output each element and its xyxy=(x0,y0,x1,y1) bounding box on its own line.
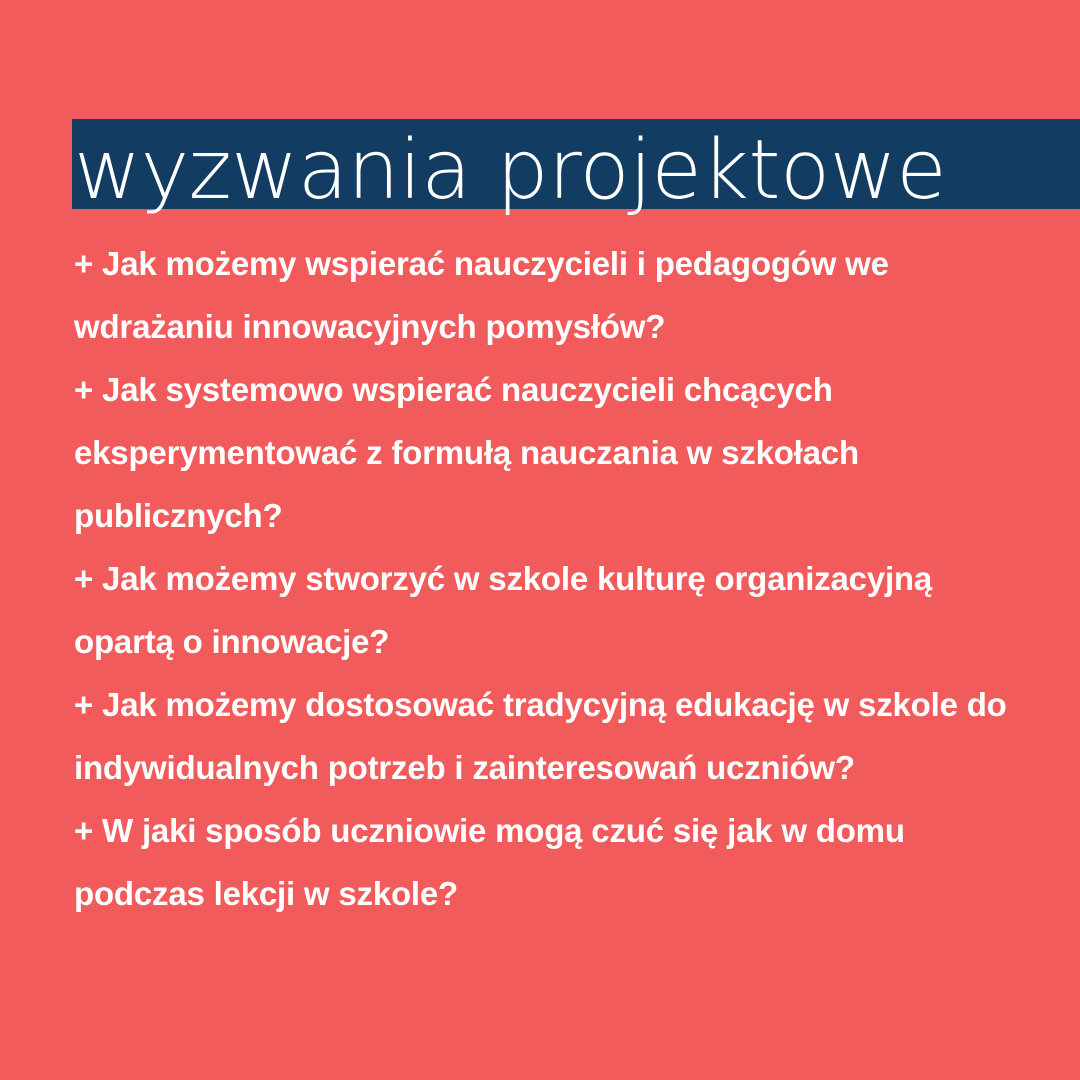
list-item: + Jak możemy dostosować tradycyjną eduka… xyxy=(74,673,1034,799)
list-item: + Jak możemy stworzyć w szkole kulturę o… xyxy=(74,547,1034,673)
slide-canvas: wyzwania projektowe + Jak możemy wspiera… xyxy=(0,0,1080,1080)
challenge-question-list: + Jak możemy wspierać nauczycieli i peda… xyxy=(74,232,1034,925)
list-item: + Jak możemy wspierać nauczycieli i peda… xyxy=(74,232,1034,358)
list-item: + Jak systemowo wspierać nauczycieli chc… xyxy=(74,358,1034,547)
list-item: + W jaki sposób uczniowie mogą czuć się … xyxy=(74,799,1034,925)
page-title: wyzwania projektowe xyxy=(74,123,1034,219)
